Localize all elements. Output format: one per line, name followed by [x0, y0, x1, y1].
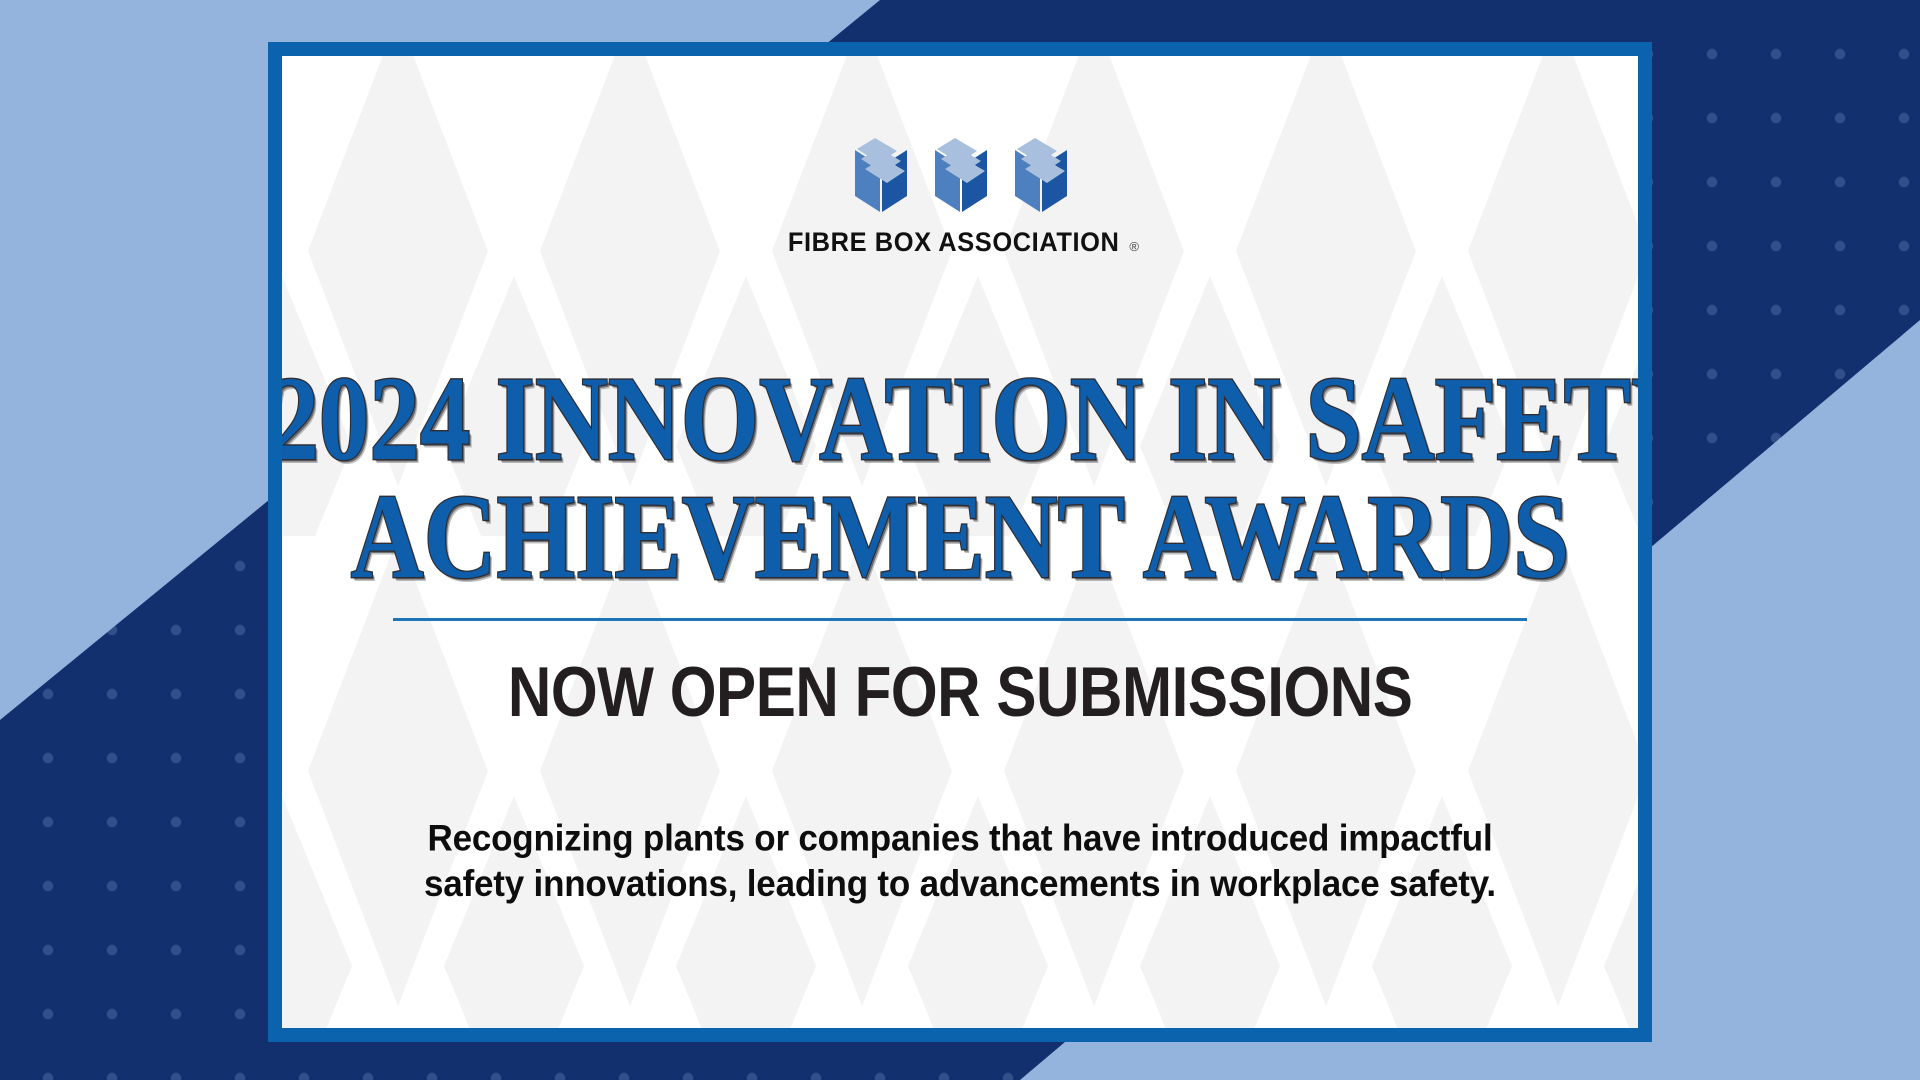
subtitle: NOW OPEN FOR SUBMISSIONS [508, 651, 1413, 732]
headline-divider [393, 618, 1527, 621]
poster-card-border: FIBRE BOX ASSOCIATION ® 2024 INNOVATION … [268, 42, 1652, 1042]
brand-wordmark-row: FIBRE BOX ASSOCIATION ® [781, 229, 1139, 256]
brand-wordmark: FIBRE BOX ASSOCIATION [788, 229, 1120, 256]
headline-line-1: 2024 INNOVATION IN SAFETY [282, 364, 1638, 476]
registered-trademark-symbol: ® [1129, 240, 1139, 253]
description-line-1: Recognizing plants or companies that hav… [338, 816, 1582, 861]
headline-line-2: ACHIEVEMENT AWARDS [282, 482, 1638, 594]
poster-card: FIBRE BOX ASSOCIATION ® 2024 INNOVATION … [282, 56, 1638, 1028]
brand-logo: FIBRE BOX ASSOCIATION ® [781, 138, 1139, 256]
description-line-2: safety innovations, leading to advanceme… [338, 861, 1582, 906]
poster-canvas: FIBRE BOX ASSOCIATION ® 2024 INNOVATION … [0, 0, 1920, 1080]
headline: 2024 INNOVATION IN SAFETY ACHIEVEMENT AW… [282, 364, 1638, 574]
card-content: FIBRE BOX ASSOCIATION ® 2024 INNOVATION … [282, 56, 1638, 1028]
description-paragraph: Recognizing plants or companies that hav… [338, 816, 1582, 906]
fibre-box-association-logo-mark [840, 138, 1080, 216]
